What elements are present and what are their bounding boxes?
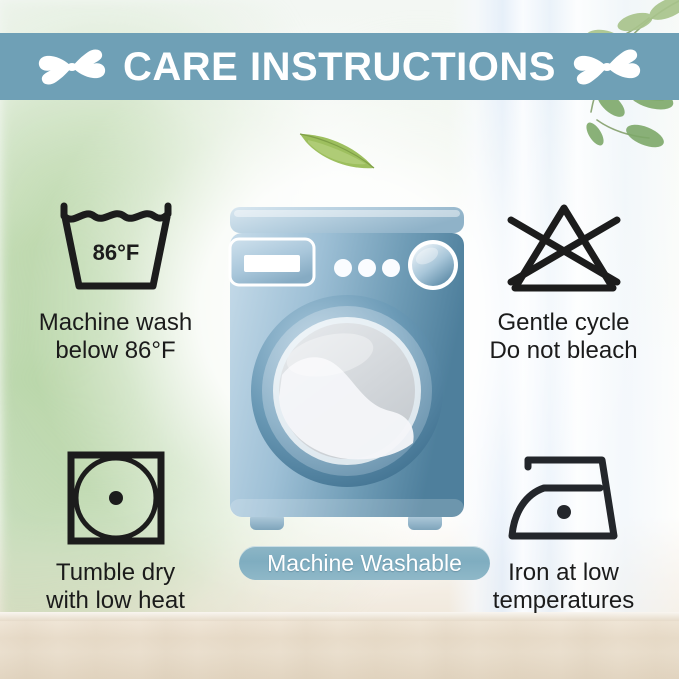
instruction-caption: Machine wash below 86°F [39,309,192,365]
washing-machine-icon [222,205,472,535]
badge-label: Machine Washable [267,552,462,575]
tumble-dry-low-icon [64,448,168,548]
machine-body-base-highlight [230,499,464,517]
no-bleach-icon-wrapper [501,196,627,300]
iron-low-temp-icon [502,450,626,546]
indicator-light-2 [358,259,376,277]
indicator-light-3 [382,259,400,277]
instruction-iron-low: Iron at low temperatures [456,446,671,615]
instruction-caption: Iron at low temperatures [493,559,634,615]
header-banner: CARE INSTRUCTIONS [0,33,679,100]
instruction-caption: Gentle cycle Do not bleach [489,309,637,365]
machine-washable-badge: Machine Washable [239,546,490,580]
detergent-drawer-slot [244,255,300,272]
indicator-light-1 [334,259,352,277]
washtub-icon: 86°F [52,198,180,298]
machine-lid-highlight [234,210,460,217]
fleur-de-lis-icon [572,44,642,90]
iron-icon-wrapper [502,446,626,550]
fleur-de-lis-icon [37,44,107,90]
triangle-crossed-no-bleach-icon [501,198,627,298]
washtub-icon-wrapper: 86°F [52,196,180,300]
care-instructions-poster: CARE INSTRUCTIONS 86°F Machine wash belo… [0,0,679,679]
instruction-machine-wash: 86°F Machine wash below 86°F [8,196,223,365]
instruction-caption: Tumble dry with low heat [46,559,185,615]
instruction-tumble-dry: Tumble dry with low heat [8,446,223,615]
tumble-dry-icon-wrapper [64,446,168,550]
floating-leaf-icon [296,120,380,178]
washtub-temperature-value: 86°F [92,240,139,265]
page-title: CARE INSTRUCTIONS [123,47,556,87]
background-wooden-table [0,612,679,679]
instruction-do-not-bleach: Gentle cycle Do not bleach [456,196,671,365]
